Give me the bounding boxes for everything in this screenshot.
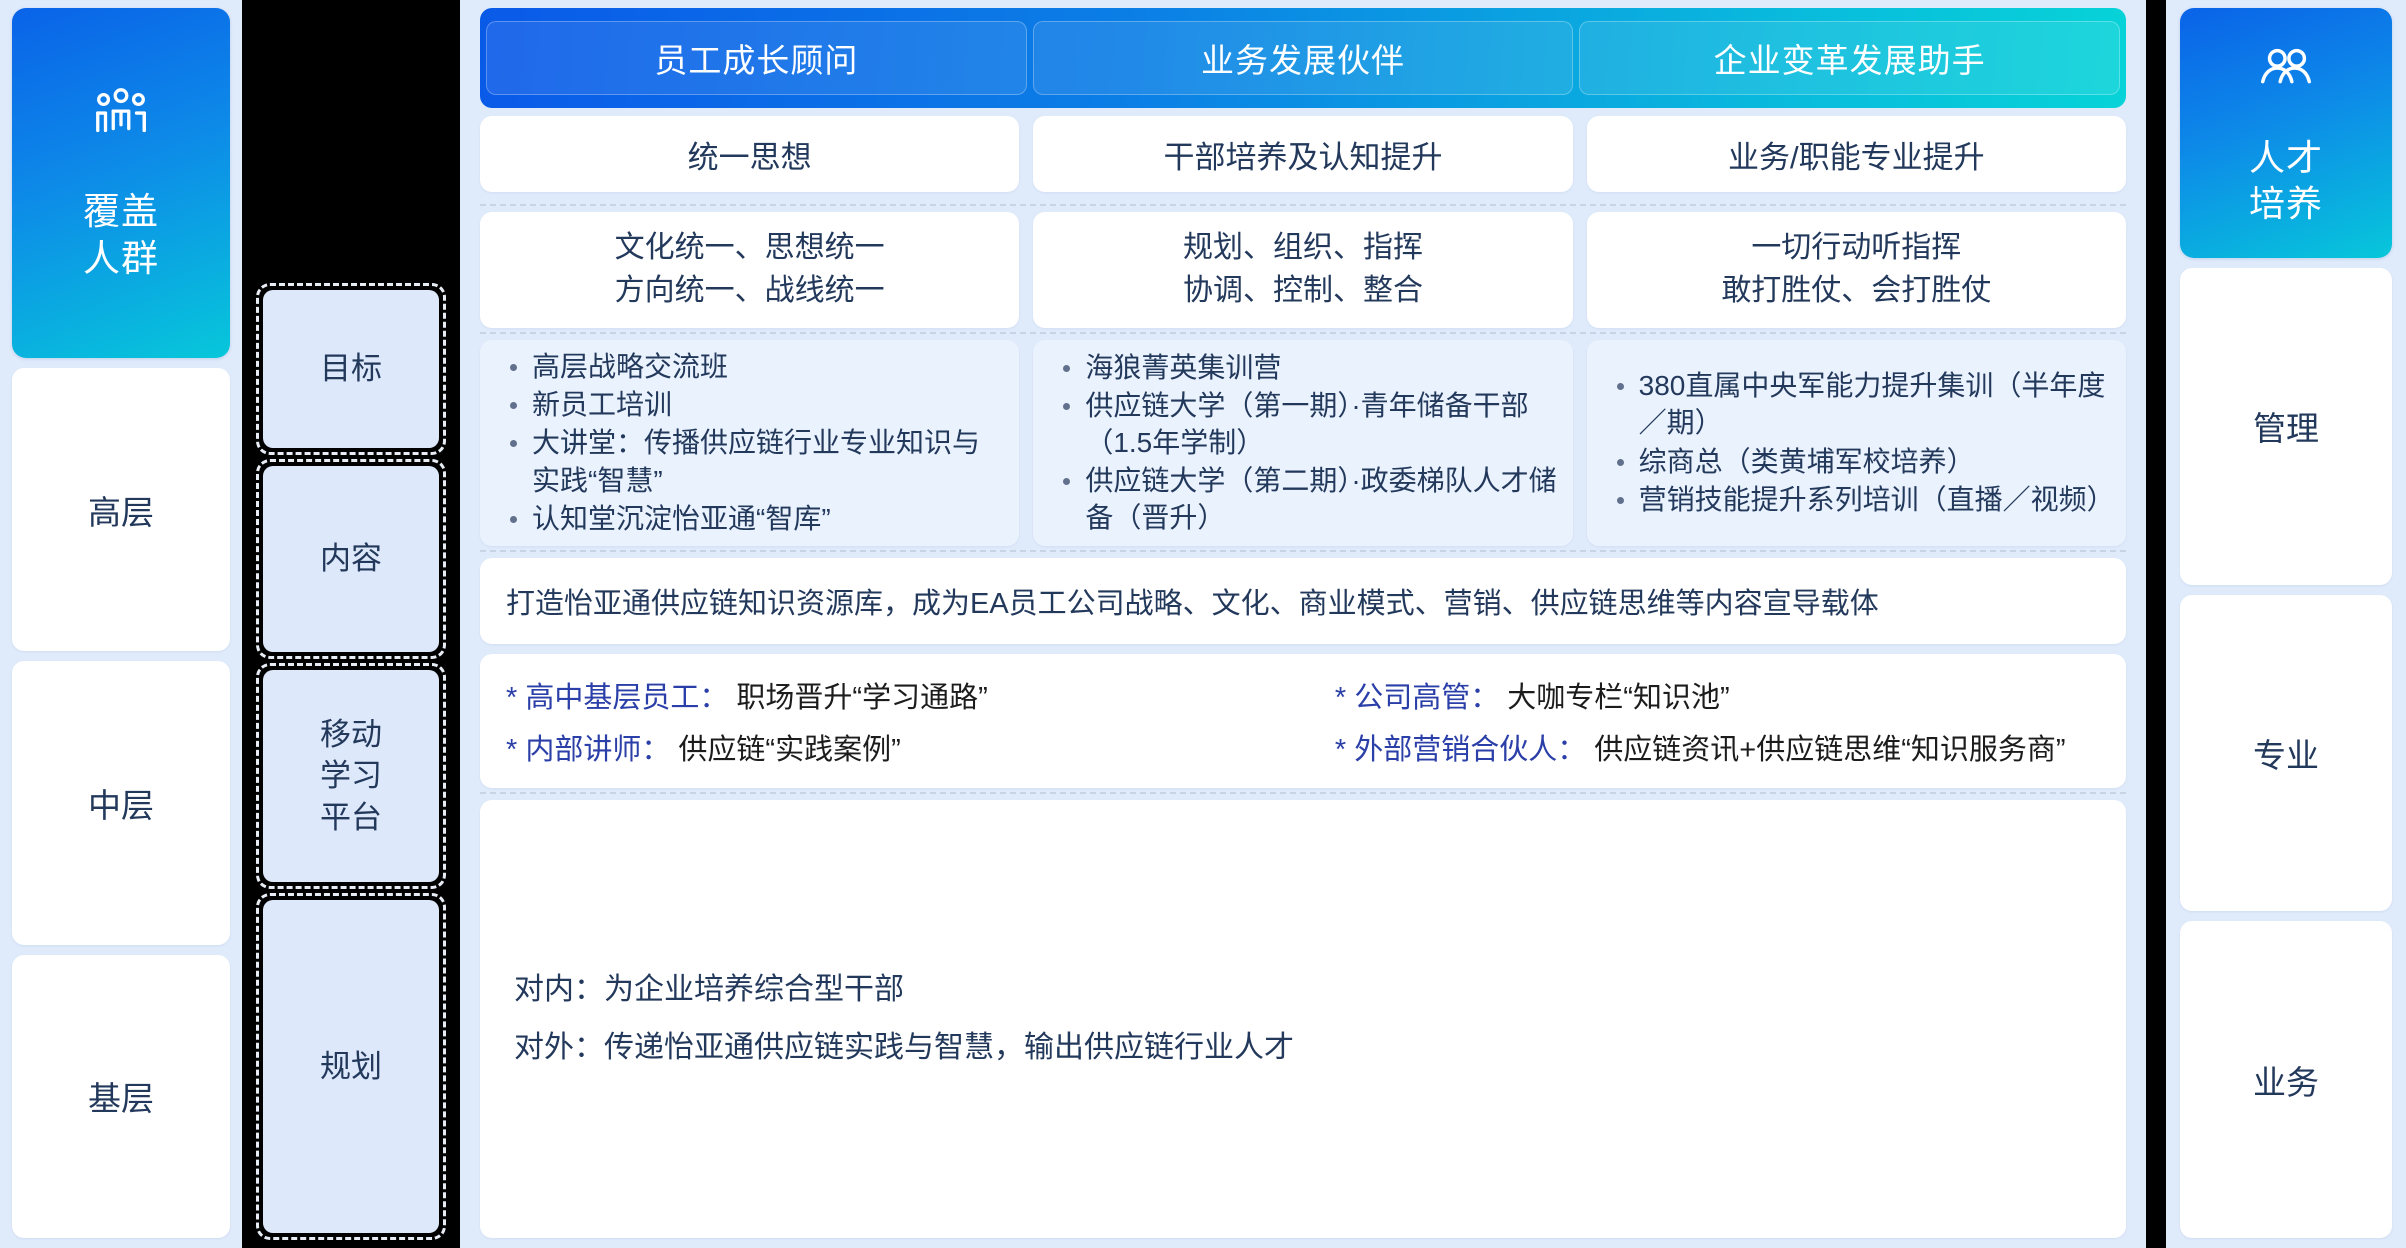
dimension-mobile-platform[interactable]: 移动 学习 平台 — [256, 663, 446, 889]
star-item-grassroots-key: * 高中基层员工： — [506, 682, 728, 714]
star-item-internal-trainers: * 内部讲师： 供应链“实践案例” — [506, 726, 1335, 768]
dimension-sidebar: 目标 内容 移动 学习 平台 规划 — [242, 0, 460, 1248]
content-row: 高层战略交流班 新员工培训 大讲堂：传播供应链行业专业知识与实践“智慧” 认知堂… — [480, 340, 2126, 546]
divider-content — [480, 332, 2126, 334]
talent-header-card: 人才培养 — [2180, 8, 2392, 258]
subtitle-professional-upgrade: 业务/职能专业提升 — [1587, 116, 2126, 192]
divider-goal — [480, 204, 2126, 206]
talent-track-management[interactable]: 管理 — [2180, 268, 2392, 585]
list-item: 供应链大学（第一期）·青年储备干部（1.5年学制） — [1059, 387, 1560, 461]
content-card-3: 380直属中央军能力提升集训（半年度／期） 综商总（类黄埔军校培养） 营销技能提… — [1587, 340, 2126, 546]
content-list-2: 海狼菁英集训营 供应链大学（第一期）·青年储备干部（1.5年学制） 供应链大学（… — [1059, 349, 1560, 538]
tab-enterprise-transformation-assistant[interactable]: 企业变革发展助手 — [1579, 21, 2120, 95]
content-card-1: 高层战略交流班 新员工培训 大讲堂：传播供应链行业专业知识与实践“智慧” 认知堂… — [480, 340, 1019, 546]
people-group-icon — [90, 84, 152, 146]
coverage-sidebar: 覆盖人群 高层 中层 基层 — [0, 0, 242, 1248]
goal-3-line2: 敢打胜仗、会打胜仗 — [1721, 274, 1991, 307]
plan-card: 对内：为企业培养综合型干部 对外：传递怡亚通供应链实践与智慧，输出供应链行业人才 — [480, 800, 2126, 1238]
goal-card-3: 一切行动听指挥敢打胜仗、会打胜仗 — [1587, 212, 2126, 328]
mobile-platform-statement: 打造怡亚通供应链知识资源库，成为EA员工公司战略、文化、商业模式、营销、供应链思… — [480, 558, 2126, 644]
tab-employee-growth-advisor[interactable]: 员工成长顾问 — [486, 21, 1027, 95]
star-item-executives-key: * 公司高管： — [1335, 682, 1499, 714]
plan-external: 对外：传递怡亚通供应链实践与智慧，输出供应链行业人才 — [514, 1019, 2092, 1078]
star-item-external-partners-value: 供应链资讯+供应链思维“知识服务商” — [1594, 734, 2065, 766]
dimension-content-label: 内容 — [263, 466, 439, 652]
mobile-platform-statement-row: 打造怡亚通供应链知识资源库，成为EA员工公司战略、文化、商业模式、营销、供应链思… — [480, 558, 2126, 644]
subtitle-cadre-cultivation: 干部培养及认知提升 — [1033, 116, 1572, 192]
talent-sidebar: 人才培养 管理 专业 业务 — [2166, 0, 2406, 1248]
tab-business-development-partner[interactable]: 业务发展伙伴 — [1033, 21, 1574, 95]
goal-1-line2: 方向统一、战线统一 — [615, 274, 885, 307]
talent-track-professional[interactable]: 专业 — [2180, 595, 2392, 912]
mobile-platform-audience-row: * 高中基层员工： 职场晋升“学习通路” * 公司高管： 大咖专栏“知识池” *… — [480, 654, 2126, 788]
star-item-grassroots-value: 职场晋升“学习通路” — [736, 682, 987, 714]
content-card-2: 海狼菁英集训营 供应链大学（第一期）·青年储备干部（1.5年学制） 供应链大学（… — [1033, 340, 1572, 546]
role-tabs-bar: 员工成长顾问 业务发展伙伴 企业变革发展助手 — [480, 8, 2126, 108]
coverage-level-middle[interactable]: 中层 — [12, 661, 230, 944]
subtitle-unified-thinking: 统一思想 — [480, 116, 1019, 192]
coverage-header-card: 覆盖人群 — [12, 8, 230, 358]
star-item-external-partners-key: * 外部营销合伙人： — [1335, 734, 1586, 766]
list-item: 供应链大学（第二期）·政委梯队人才储备（晋升） — [1059, 462, 1560, 536]
list-item: 新员工培训 — [506, 386, 1007, 423]
talent-people-icon — [2255, 39, 2317, 101]
talent-track-business[interactable]: 业务 — [2180, 921, 2392, 1238]
star-item-grassroots: * 高中基层员工： 职场晋升“学习通路” — [506, 674, 1335, 716]
content-list-1: 高层战略交流班 新员工培训 大讲堂：传播供应链行业专业知识与实践“智慧” 认知堂… — [506, 348, 1007, 538]
coverage-header-title: 覆盖人群 — [83, 188, 159, 283]
goal-3-line1: 一切行动听指挥 — [1751, 231, 1961, 264]
dimension-content[interactable]: 内容 — [256, 459, 446, 659]
dimension-plan-label: 规划 — [263, 900, 439, 1233]
plan-lines: 对内：为企业培养综合型干部 对外：传递怡亚通供应链实践与智慧，输出供应链行业人才 — [514, 961, 2092, 1078]
list-item: 海狼菁英集训营 — [1059, 349, 1560, 386]
coverage-level-top[interactable]: 高层 — [12, 368, 230, 651]
diagram-canvas: 覆盖人群 高层 中层 基层 目标 内容 移动 学习 平台 规划 员工成长顾问 业… — [0, 0, 2406, 1248]
list-item: 认知堂沉淀怡亚通“智库” — [506, 500, 1007, 537]
goal-card-2: 规划、组织、指挥协调、控制、整合 — [1033, 212, 1572, 328]
list-item: 大讲堂：传播供应链行业专业知识与实践“智慧” — [506, 424, 1007, 498]
plan-internal: 对内：为企业培养综合型干部 — [514, 961, 2092, 1020]
star-item-external-partners: * 外部营销合伙人： 供应链资讯+供应链思维“知识服务商” — [1335, 726, 2100, 768]
goal-row: 文化统一、思想统一方向统一、战线统一 规划、组织、指挥协调、控制、整合 一切行动… — [480, 212, 2126, 328]
right-black-divider — [2146, 0, 2166, 1248]
main-panel: 员工成长顾问 业务发展伙伴 企业变革发展助手 统一思想 干部培养及认知提升 业务… — [460, 0, 2146, 1248]
star-item-executives: * 公司高管： 大咖专栏“知识池” — [1335, 674, 2100, 716]
content-list-3: 380直属中央军能力提升集训（半年度／期） 综商总（类黄埔军校培养） 营销技能提… — [1613, 367, 2114, 519]
star-item-executives-value: 大咖专栏“知识池” — [1507, 682, 1729, 714]
goal-2-line2: 协调、控制、整合 — [1183, 274, 1423, 307]
coverage-level-base[interactable]: 基层 — [12, 955, 230, 1238]
dimension-goal-label: 目标 — [263, 290, 439, 448]
goal-2-line1: 规划、组织、指挥 — [1183, 231, 1423, 264]
mobile-platform-audience-card: * 高中基层员工： 职场晋升“学习通路” * 公司高管： 大咖专栏“知识池” *… — [480, 654, 2126, 788]
plan-row: 对内：为企业培养综合型干部 对外：传递怡亚通供应链实践与智慧，输出供应链行业人才 — [480, 800, 2126, 1238]
goal-1-line1: 文化统一、思想统一 — [615, 231, 885, 264]
goal-card-1: 文化统一、思想统一方向统一、战线统一 — [480, 212, 1019, 328]
list-item: 高层战略交流班 — [506, 348, 1007, 385]
dimension-mobile-platform-label: 移动 学习 平台 — [263, 670, 439, 882]
divider-mobile-platform — [480, 550, 2126, 552]
divider-plan — [480, 792, 2126, 794]
star-item-internal-trainers-value: 供应链“实践案例” — [678, 734, 900, 766]
talent-header-title: 人才培养 — [2249, 135, 2323, 227]
list-item: 营销技能提升系列培训（直播／视频） — [1613, 481, 2114, 518]
star-item-internal-trainers-key: * 内部讲师： — [506, 734, 670, 766]
dimension-plan[interactable]: 规划 — [256, 893, 446, 1240]
list-item: 综商总（类黄埔军校培养） — [1613, 443, 2114, 480]
dimension-goal[interactable]: 目标 — [256, 283, 446, 455]
list-item: 380直属中央军能力提升集训（半年度／期） — [1613, 367, 2114, 441]
subtitle-row: 统一思想 干部培养及认知提升 业务/职能专业提升 — [480, 116, 2126, 192]
star-items-grid: * 高中基层员工： 职场晋升“学习通路” * 公司高管： 大咖专栏“知识池” *… — [506, 674, 2100, 768]
